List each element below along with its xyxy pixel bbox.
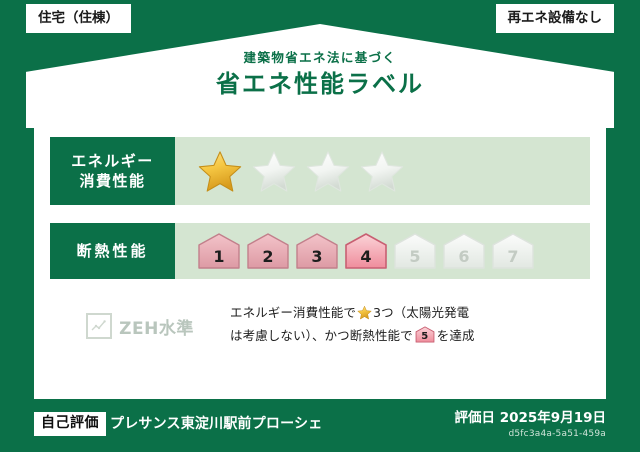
star-icon-empty-4	[359, 149, 405, 193]
zeh-description: エネルギー消費性能で3つ（太陽光発電は考慮しない）、かつ断熱性能で5を達成	[230, 301, 590, 347]
insulation-level-3: 3	[295, 232, 339, 270]
insulation-performance-row: 断熱性能	[50, 223, 590, 279]
insulation-label-text: 断熱性能	[76, 241, 148, 261]
insulation-level-1: 1	[197, 232, 241, 270]
evaluation-type-badge: 自己評価	[34, 412, 106, 436]
insulation-level-4-current: 4	[344, 232, 388, 270]
insulation-level-6-value: 6	[442, 249, 486, 265]
insulation-level-list: 1 2 3	[197, 232, 535, 270]
energy-performance-label: エネルギー 消費性能	[50, 137, 175, 205]
insulation-level-2: 2	[246, 232, 290, 270]
zeh-desc-part1: エネルギー消費性能で	[230, 305, 356, 320]
insulation-level-4-value: 4	[344, 249, 388, 265]
insulation-level-6: 6	[442, 232, 486, 270]
star-icon-empty-2	[251, 149, 297, 193]
building-name: プレサンス東淀川駅前プローシェ	[110, 414, 322, 434]
energy-label-line2: 消費性能	[79, 171, 145, 191]
zeh-desc-stars: 3つ（太陽光発電	[373, 305, 469, 320]
renewable-energy-badge: 再エネ設備なし	[496, 4, 615, 33]
label-footer: 自己評価 プレサンス東淀川駅前プローシェ 評価日 2025年9月19日 d5fc…	[0, 402, 640, 452]
insulation-level-7-value: 7	[491, 249, 535, 265]
insulation-level-3-value: 3	[295, 249, 339, 265]
insulation-levels-container: 1 2 3	[175, 223, 590, 279]
star-icon-empty-3	[305, 149, 351, 193]
insulation-level-2-value: 2	[246, 249, 290, 265]
zeh-section: ZEH水準 エネルギー消費性能で3つ（太陽光発電は考慮しない）、かつ断熱性能で5…	[50, 301, 590, 347]
insulation-level-inline-badge: 5	[415, 326, 435, 343]
star-icon-filled-1	[197, 149, 243, 193]
energy-stars-container	[175, 137, 590, 205]
energy-performance-label: 建築物省エネ法に基づく 省エネ性能ラベル 住宅（住棟） 再エネ設備なし エネルギ…	[0, 0, 640, 452]
building-type-badge: 住宅（住棟）	[26, 4, 131, 33]
zeh-mark-label: ZEH水準	[119, 314, 194, 339]
zeh-desc-part3: を達成	[437, 328, 475, 343]
insulation-performance-label: 断熱性能	[50, 223, 175, 279]
zeh-desc-part2: は考慮しない）、かつ断熱性能で	[230, 328, 413, 343]
insulation-level-7: 7	[491, 232, 535, 270]
evaluation-date-value: 2025年9月19日	[500, 410, 606, 426]
label-content-card: エネルギー 消費性能	[34, 119, 606, 399]
energy-label-line1: エネルギー	[71, 151, 154, 171]
evaluation-id: d5fc3a4a-5a51-459a	[508, 428, 606, 440]
header-roof-banner	[26, 24, 614, 128]
zeh-desc-level-value: 5	[415, 332, 435, 342]
zeh-mark: ZEH水準	[50, 301, 230, 339]
zeh-chart-icon	[86, 313, 112, 339]
insulation-level-1-value: 1	[197, 249, 241, 265]
insulation-level-5-value: 5	[393, 249, 437, 265]
insulation-level-5: 5	[393, 232, 437, 270]
evaluation-date: 評価日 2025年9月19日	[455, 409, 606, 427]
evaluation-date-label: 評価日	[455, 410, 496, 426]
energy-performance-row: エネルギー 消費性能	[50, 137, 590, 205]
star-icon-inline	[357, 305, 372, 320]
